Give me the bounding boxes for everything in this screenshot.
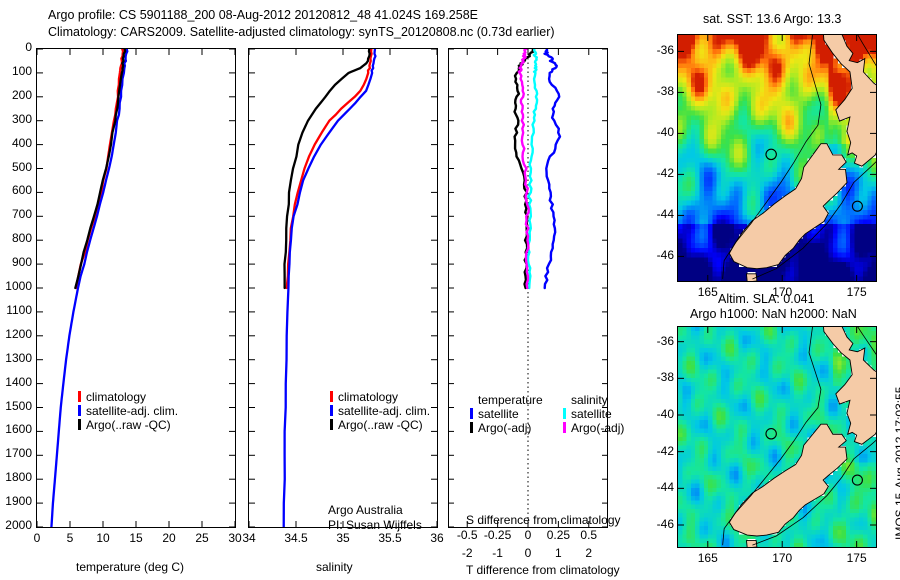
- salinity-tick-34: 34: [229, 531, 269, 545]
- depth-tick-900: 900: [0, 255, 32, 269]
- depth-tick-600: 600: [0, 183, 32, 197]
- salinity-tick-34.5: 34.5: [276, 531, 316, 545]
- temperature-tick-25: 25: [190, 531, 214, 545]
- legend-swatch-climatology: [78, 391, 81, 402]
- depth-tick-200: 200: [0, 88, 32, 102]
- legend-label-climatology-2: climatology: [338, 390, 398, 404]
- legend-swatch-argo-raw-2: [330, 419, 333, 430]
- depth-tick-300: 300: [0, 112, 32, 126]
- salinity-legend: climatology satellite-adj. clim. Argo(..…: [330, 390, 430, 432]
- depth-tick-1600: 1600: [0, 422, 32, 436]
- imos-timestamp-container: IMOS 15-Aug-2012 17:03:55: [893, 540, 900, 554]
- depth-tick-1400: 1400: [0, 375, 32, 389]
- legend-heading-temperature: temperature: [470, 393, 543, 407]
- legend-item-sal-argo-adj: Argo(-adj): [563, 421, 624, 435]
- depth-tick-1200: 1200: [0, 327, 32, 341]
- depth-tick-800: 800: [0, 231, 32, 245]
- depth-tick-1800: 1800: [0, 470, 32, 484]
- depth-tick-0: 0: [0, 40, 32, 54]
- map-lat-tick--44: -44: [644, 480, 674, 494]
- temperature-tick-20: 20: [157, 531, 181, 545]
- sla-map-panel: [677, 326, 877, 548]
- legend-item-argo-raw: Argo(..raw -QC): [78, 418, 178, 432]
- map-lat-tick--40: -40: [644, 407, 674, 421]
- depth-tick-1500: 1500: [0, 399, 32, 413]
- depth-tick-500: 500: [0, 160, 32, 174]
- sla-map-header-line2: Argo h1000: NaN h2000: NaN: [690, 307, 857, 321]
- map-lat-tick--36: -36: [644, 43, 674, 57]
- sla-map-header-line1: Altim. SLA: 0.041: [718, 292, 815, 306]
- legend-item-sal-satellite: satellite: [563, 407, 624, 421]
- depth-tick-100: 100: [0, 64, 32, 78]
- sst-map-image: [678, 35, 876, 281]
- depth-tick-400: 400: [0, 136, 32, 150]
- legend-item-climatology: climatology: [78, 390, 178, 404]
- temperature-tick-0: 0: [25, 531, 49, 545]
- legend-label-temp-satellite: satellite: [478, 407, 519, 421]
- map-lat-tick--46: -46: [644, 248, 674, 262]
- legend-swatch-argo-raw: [78, 419, 81, 430]
- depth-tick-1300: 1300: [0, 351, 32, 365]
- legend-swatch-sal-satellite: [563, 408, 566, 419]
- temperature-tick-10: 10: [91, 531, 115, 545]
- depth-tick-1700: 1700: [0, 446, 32, 460]
- depth-tick-700: 700: [0, 207, 32, 221]
- map-lat-tick--46: -46: [644, 517, 674, 531]
- map-lat-tick--42: -42: [644, 166, 674, 180]
- salinity-profile-panel: [248, 48, 438, 528]
- legend-item-argo-raw-2: Argo(..raw -QC): [330, 418, 430, 432]
- figure-title-line2: Climatology: CARS2009. Satellite-adjuste…: [48, 25, 555, 39]
- argo-pi-credit: PI: Susan Wijffels: [328, 518, 422, 532]
- temperature-axis-label: temperature (deg C): [76, 560, 184, 574]
- map-lat-tick--36: -36: [644, 334, 674, 348]
- salinity-tick-35.5: 35.5: [370, 531, 410, 545]
- difference-legend-temperature: temperature satellite Argo(-adj): [470, 393, 543, 435]
- depth-tick-1000: 1000: [0, 279, 32, 293]
- temperature-tick-15: 15: [124, 531, 148, 545]
- map-lon-tick-175: 175: [841, 285, 873, 299]
- legend-swatch-sal-argo-adj: [563, 422, 566, 433]
- legend-item-satellite-adj-2: satellite-adj. clim.: [330, 404, 430, 418]
- s-difference-tick-0.5: 0.5: [567, 528, 611, 542]
- depth-tick-2000: 2000: [0, 518, 32, 532]
- legend-item-temp-satellite: satellite: [470, 407, 543, 421]
- legend-item-temp-argo-adj: Argo(-adj): [470, 421, 543, 435]
- legend-item-climatology-2: climatology: [330, 390, 430, 404]
- map-lon-tick-170: 170: [766, 551, 798, 565]
- map-lat-tick--38: -38: [644, 370, 674, 384]
- salinity-difference-axis-label: S difference from climatology: [466, 513, 621, 527]
- imos-timestamp: IMOS 15-Aug-2012 17:03:55: [893, 387, 900, 540]
- legend-swatch-climatology-2: [330, 391, 333, 402]
- map-lat-tick--42: -42: [644, 444, 674, 458]
- legend-swatch-satellite-adj: [78, 405, 81, 416]
- legend-label-sal-argo-adj: Argo(-adj): [571, 421, 624, 435]
- map-lat-tick--40: -40: [644, 125, 674, 139]
- t-difference-tick--2: -2: [451, 546, 483, 560]
- t-difference-tick-1: 1: [542, 546, 574, 560]
- map-lat-tick--44: -44: [644, 207, 674, 221]
- legend-label-sal-satellite: satellite: [571, 407, 612, 421]
- legend-label-temp-argo-adj: Argo(-adj): [478, 421, 531, 435]
- difference-legend-salinity: salinity satellite Argo(-adj): [563, 393, 624, 435]
- map-lat-tick--38: -38: [644, 84, 674, 98]
- temperature-profile-plot: [37, 49, 235, 527]
- sla-map-image: [678, 327, 876, 547]
- map-lon-tick-175: 175: [841, 551, 873, 565]
- map-lon-tick-165: 165: [692, 551, 724, 565]
- t-difference-tick-0: 0: [512, 546, 544, 560]
- legend-heading-salinity: salinity: [563, 393, 624, 407]
- temperature-legend: climatology satellite-adj. clim. Argo(..…: [78, 390, 178, 432]
- legend-swatch-temp-satellite: [470, 408, 473, 419]
- temperature-profile-panel: [36, 48, 236, 528]
- temperature-tick-5: 5: [58, 531, 82, 545]
- argo-australia-credit: Argo Australia: [328, 503, 403, 517]
- legend-swatch-satellite-adj-2: [330, 405, 333, 416]
- difference-profile-panel: [448, 48, 608, 528]
- salinity-profile-plot: [249, 49, 437, 527]
- depth-tick-1100: 1100: [0, 303, 32, 317]
- legend-label-satellite-adj-2: satellite-adj. clim.: [338, 404, 430, 418]
- t-difference-tick--1: -1: [482, 546, 514, 560]
- legend-item-satellite-adj: satellite-adj. clim.: [78, 404, 178, 418]
- sst-map-panel: [677, 34, 877, 282]
- temperature-difference-axis-label: T difference from climatology: [466, 563, 620, 577]
- legend-label-climatology: climatology: [86, 390, 146, 404]
- legend-label-argo-raw-2: Argo(..raw -QC): [338, 418, 423, 432]
- figure-title-line1: Argo profile: CS 5901188_200 08-Aug-2012…: [48, 8, 478, 22]
- t-difference-tick-2: 2: [573, 546, 605, 560]
- salinity-axis-label: salinity: [316, 560, 353, 574]
- difference-profile-plot: [449, 49, 607, 527]
- legend-swatch-temp-argo-adj: [470, 422, 473, 433]
- sst-map-header: sat. SST: 13.6 Argo: 13.3: [703, 12, 841, 26]
- legend-label-satellite-adj: satellite-adj. clim.: [86, 404, 178, 418]
- legend-label-argo-raw: Argo(..raw -QC): [86, 418, 171, 432]
- depth-tick-1900: 1900: [0, 494, 32, 508]
- salinity-tick-35: 35: [323, 531, 363, 545]
